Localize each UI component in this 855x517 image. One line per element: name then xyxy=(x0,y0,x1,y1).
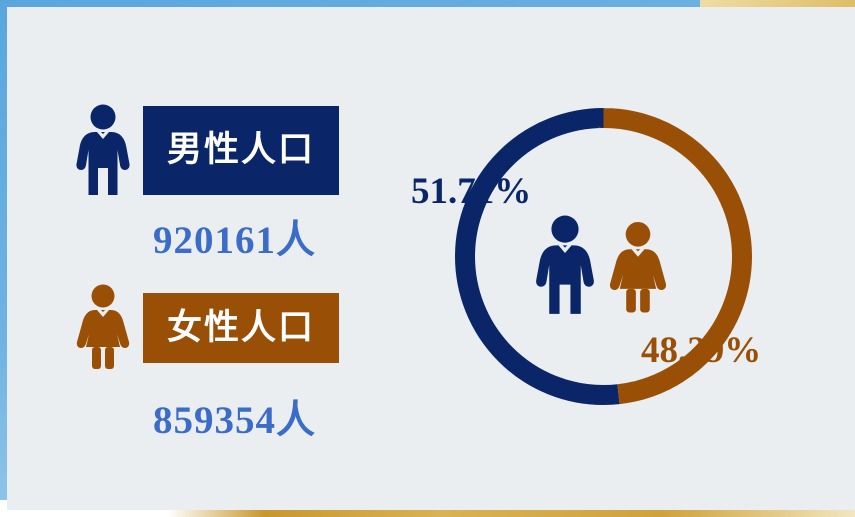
male-person-icon xyxy=(534,215,596,315)
male-label-text: 男性人口 xyxy=(167,133,315,168)
content-canvas: 男性人口 920161人 女性人口 859354人 xyxy=(7,7,855,510)
infographic-root: 男性人口 920161人 女性人口 859354人 xyxy=(0,0,855,517)
female-percentage-label: 48.29% xyxy=(641,329,761,372)
male-person-icon xyxy=(75,104,131,201)
female-label-text: 女性人口 xyxy=(167,311,315,346)
female-person-icon xyxy=(608,220,668,315)
female-person-icon xyxy=(75,284,131,375)
female-count-text: 859354人 xyxy=(153,389,316,445)
male-label-bar: 男性人口 xyxy=(143,106,339,195)
female-label-bar: 女性人口 xyxy=(143,293,339,363)
male-count-text: 920161人 xyxy=(153,209,316,265)
male-percentage-label: 51.71% xyxy=(411,170,531,213)
donut-center-icons xyxy=(534,210,674,315)
